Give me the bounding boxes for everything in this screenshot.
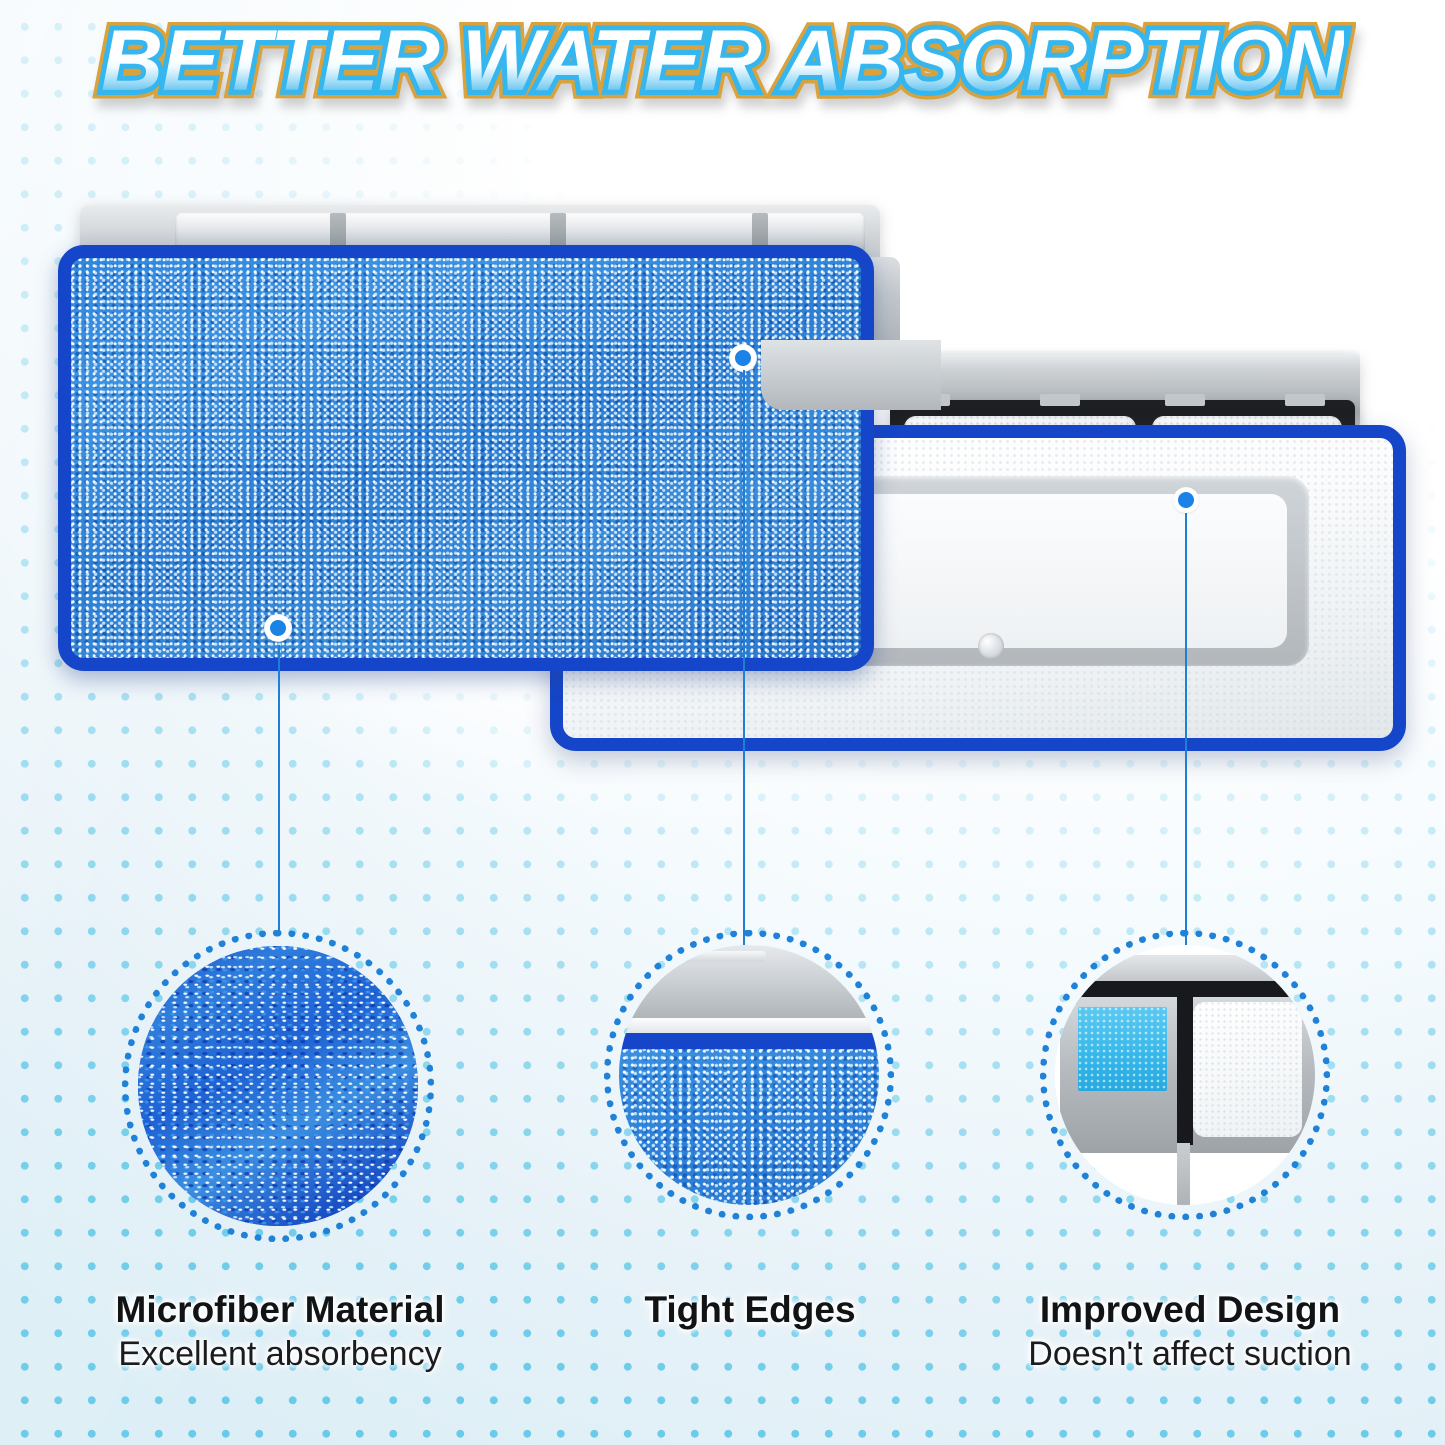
filter-frame-tab <box>1040 394 1080 406</box>
microfiber-texture-image <box>138 946 418 1226</box>
design-closeup-white-filter <box>1193 1002 1302 1137</box>
headline-text-stack: BETTER WATER ABSORPTION BETTER WATER ABS… <box>101 18 1344 104</box>
feature-title: Improved Design <box>960 1288 1420 1332</box>
page-title: BETTER WATER ABSORPTION <box>101 13 1344 109</box>
tight-edges-closeup <box>619 945 879 1205</box>
design-closeup-stem <box>1177 1143 1190 1205</box>
filter-frame-tab <box>1165 394 1205 406</box>
microfiber-closeup <box>138 946 418 1226</box>
blue-microfiber-mop-pad <box>58 245 874 671</box>
design-closeup-cyan-filter <box>1078 1007 1166 1090</box>
edge-closeup-pad-binding <box>619 1033 879 1205</box>
callout-dot-microfiber[interactable] <box>265 615 291 641</box>
improved-design-closeup <box>1055 945 1315 1205</box>
filter-frame-tab <box>1285 394 1325 406</box>
edge-closeup-head-tab <box>667 951 766 962</box>
white-pad-stud <box>978 633 1004 659</box>
callout-dot-improved-design[interactable] <box>1174 488 1198 512</box>
leader-line-microfiber <box>278 645 280 935</box>
callout-dot-tight-edges[interactable] <box>730 345 756 371</box>
infographic-canvas: BETTER WATER ABSORPTION BETTER WATER ABS… <box>0 0 1445 1445</box>
leader-line-improved-design <box>1185 513 1187 945</box>
feature-title: Microfiber Material <box>35 1288 525 1332</box>
feature-label-microfiber: Microfiber Material Excellent absorbency <box>35 1288 525 1374</box>
pad-corner-cutout <box>761 340 941 410</box>
headline-banner: BETTER WATER ABSORPTION BETTER WATER ABS… <box>0 18 1445 104</box>
product-photo-composition <box>0 150 1445 910</box>
feature-label-tight-edges: Tight Edges <box>520 1288 980 1334</box>
feature-title: Tight Edges <box>520 1288 980 1332</box>
leader-line-tight-edges <box>743 370 745 950</box>
feature-subtitle: Doesn't affect suction <box>960 1334 1420 1375</box>
feature-subtitle: Excellent absorbency <box>35 1334 525 1375</box>
design-closeup-black-divider <box>1177 994 1193 1145</box>
feature-label-improved-design: Improved Design Doesn't affect suction <box>960 1288 1420 1374</box>
